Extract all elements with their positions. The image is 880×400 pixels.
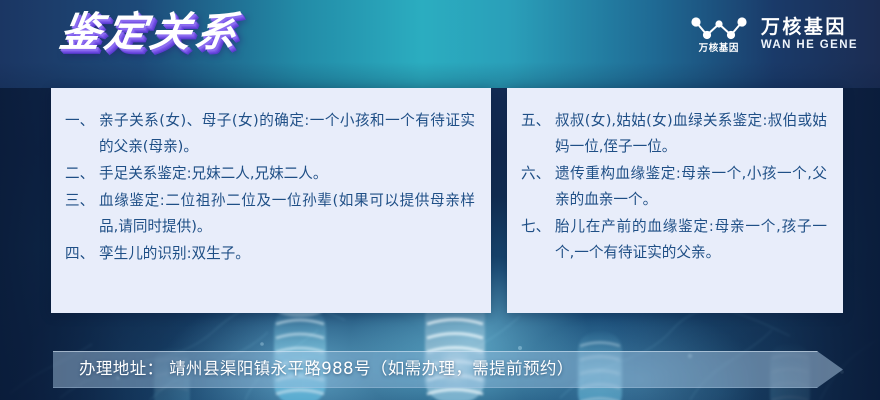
brand-logo: 万核基因 万核基因 WAN HE GENE xyxy=(690,16,858,54)
logo-wordmark: 万核基因 WAN HE GENE xyxy=(761,18,858,52)
list-item-number: 六、 xyxy=(521,161,555,213)
page-title: 鉴定关系 xyxy=(57,12,243,53)
header-band: 鉴定关系 xyxy=(0,0,880,88)
relationship-list-right: 五、 叔叔(女),姑姑(女)血绿关系鉴定:叔伯或姑妈一位,侄子一位。 六、 遗传… xyxy=(521,108,827,266)
list-item-number: 一、 xyxy=(65,108,99,160)
list-item-number: 二、 xyxy=(65,161,99,187)
panel-right: 五、 叔叔(女),姑姑(女)血绿关系鉴定:叔伯或姑妈一位,侄子一位。 六、 遗传… xyxy=(507,88,843,313)
list-item: 二、 手足关系鉴定:兄妹二人,兄妹二人。 xyxy=(65,161,475,187)
address-text: 办理地址： 靖州县渠阳镇永平路988号（如需办理，需提前预约） xyxy=(53,361,574,378)
list-item: 一、 亲子关系(女)、母子(女)的确定:一个小孩和一个有待证实的父亲(母亲)。 xyxy=(65,108,475,160)
list-item-text: 血缘鉴定:二位祖孙二位及一位孙辈(如果可以提供母亲样品,请同时提供)。 xyxy=(99,188,475,240)
list-item-text: 手足关系鉴定:兄妹二人,兄妹二人。 xyxy=(99,161,475,187)
brand-name-cn: 万核基因 xyxy=(761,18,858,37)
brand-name-en: WAN HE GENE xyxy=(761,40,858,52)
list-item-text: 叔叔(女),姑姑(女)血绿关系鉴定:叔伯或姑妈一位,侄子一位。 xyxy=(555,108,827,160)
list-item-number: 五、 xyxy=(521,108,555,160)
list-item-number: 四、 xyxy=(65,241,99,267)
relationship-list-left: 一、 亲子关系(女)、母子(女)的确定:一个小孩和一个有待证实的父亲(母亲)。 … xyxy=(65,108,475,267)
content-panels: 一、 亲子关系(女)、母子(女)的确定:一个小孩和一个有待证实的父亲(母亲)。 … xyxy=(51,88,843,313)
poster-canvas: 鉴定关系 xyxy=(0,0,880,400)
list-item: 六、 遗传重构血缘鉴定:母亲一个,小孩一个,父亲的血亲一个。 xyxy=(521,161,827,213)
list-item: 七、 胎儿在产前的血缘鉴定:母亲一个,孩子一个,一个有待证实的父亲。 xyxy=(521,214,827,266)
list-item: 五、 叔叔(女),姑姑(女)血绿关系鉴定:叔伯或姑妈一位,侄子一位。 xyxy=(521,108,827,160)
list-item-text: 亲子关系(女)、母子(女)的确定:一个小孩和一个有待证实的父亲(母亲)。 xyxy=(99,108,475,160)
list-item-number: 七、 xyxy=(521,214,555,266)
address-ribbon: 办理地址： 靖州县渠阳镇永平路988号（如需办理，需提前预约） xyxy=(53,351,843,388)
list-item-text: 孪生儿的识别:双生子。 xyxy=(99,241,475,267)
list-item-text: 遗传重构血缘鉴定:母亲一个,小孩一个,父亲的血亲一个。 xyxy=(555,161,827,213)
list-item-number: 三、 xyxy=(65,188,99,240)
logo-mark: 万核基因 xyxy=(690,16,748,54)
logo-mark-caption: 万核基因 xyxy=(699,44,739,54)
list-item-text: 胎儿在产前的血缘鉴定:母亲一个,孩子一个,一个有待证实的父亲。 xyxy=(555,214,827,266)
panel-left: 一、 亲子关系(女)、母子(女)的确定:一个小孩和一个有待证实的父亲(母亲)。 … xyxy=(51,88,491,313)
list-item: 三、 血缘鉴定:二位祖孙二位及一位孙辈(如果可以提供母亲样品,请同时提供)。 xyxy=(65,188,475,240)
molecule-node-icon xyxy=(690,16,748,42)
list-item: 四、 孪生儿的识别:双生子。 xyxy=(65,241,475,267)
